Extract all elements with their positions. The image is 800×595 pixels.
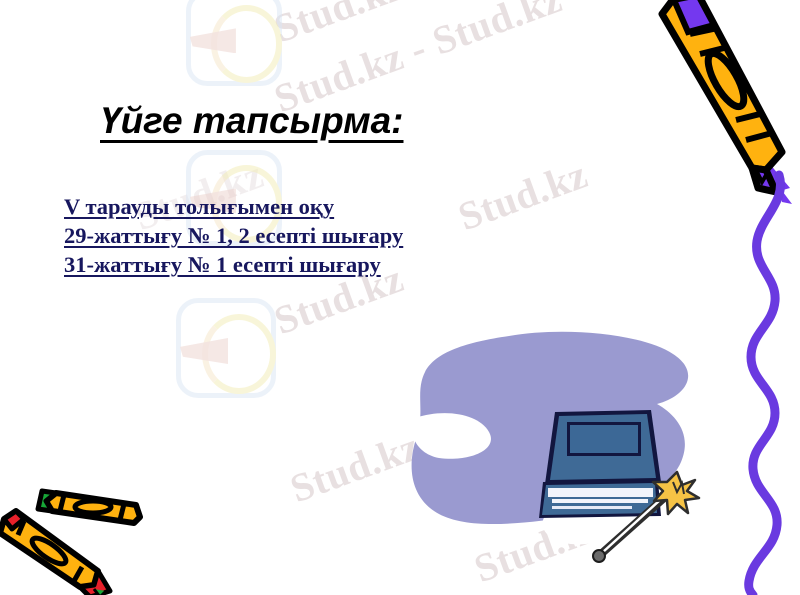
list-item: V тарауды толығымен оқу (64, 193, 403, 221)
slide-canvas: Stud.kz Stud.kz - Stud.kz Stud.kz Stud.k… (0, 0, 800, 595)
page-title: Үйге тапсырма: (100, 100, 404, 142)
homework-task-list: V тарауды толығымен оқу 29-жаттығу № 1, … (64, 193, 403, 280)
slide-text-content: Үйге тапсырма: V тарауды толығымен оқу 2… (0, 0, 800, 595)
list-item: 31-жаттығу № 1 есепті шығару (64, 251, 403, 279)
list-item: 29-жаттығу № 1, 2 есепті шығару (64, 222, 403, 250)
